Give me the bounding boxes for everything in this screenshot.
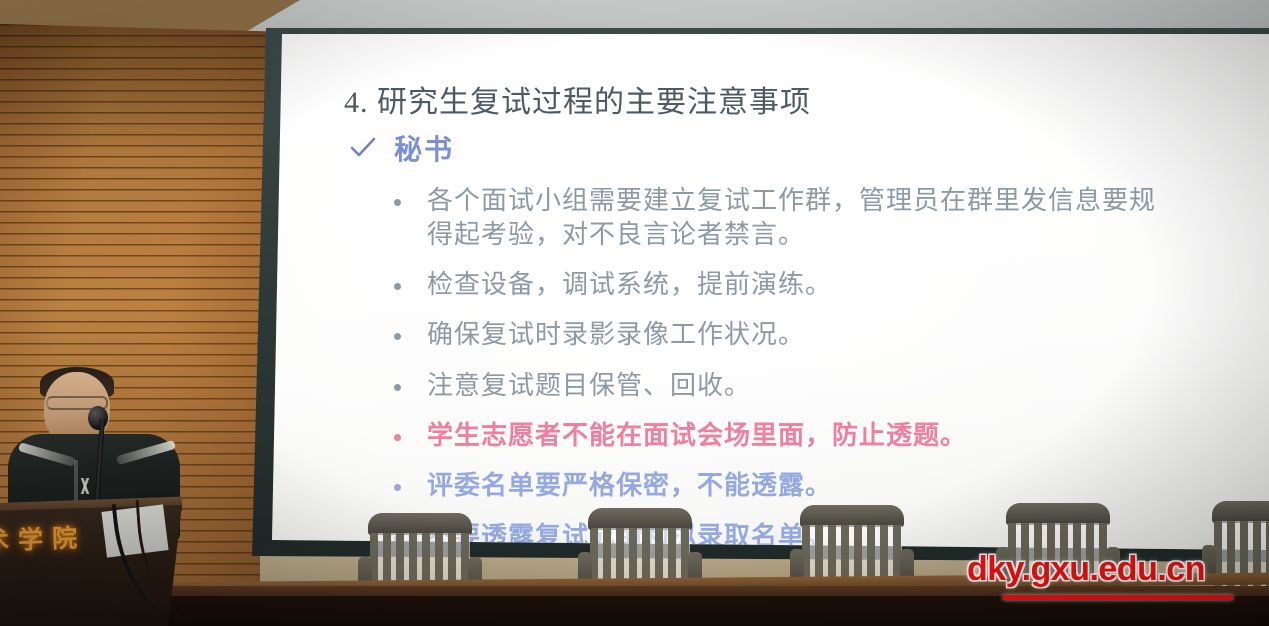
bullet-line: 得起考验，对不良言论者禁言。	[427, 220, 805, 249]
list-item: 学生志愿者不能在面试会场里面，防止透题。	[394, 419, 1269, 453]
chair-backrest	[368, 513, 472, 535]
bullet-text: 注意复试题目保管、回收。	[427, 369, 751, 403]
jacket-logo	[74, 478, 96, 494]
bullet-dot-icon	[394, 283, 401, 290]
slide-subheading: 秘书	[350, 128, 1269, 168]
bullet-text: 确保复试时录影录像工作状况。	[427, 318, 805, 352]
bullet-dot-icon	[394, 333, 401, 340]
bullet-text: 评委名单要严格保密，不能透露。	[427, 469, 832, 503]
chair-backrest	[1006, 503, 1110, 525]
chair-backrest	[1212, 501, 1269, 523]
bullet-text: 检查设备，调试系统，提前演练。	[427, 268, 832, 302]
bullet-text: 各个面试小组需要建立复试工作群，管理员在群里发信息要规 得起考验，对不良言论者禁…	[427, 184, 1156, 253]
bullet-dot-icon	[394, 484, 401, 491]
chair-backrest	[588, 508, 692, 530]
lecture-hall-photo: 4. 研究生复试过程的主要注意事项 秘书 各个面试小组需要建立复试工作群，管理员…	[0, 0, 1269, 626]
watermark-text: dky.gxu.edu.cn	[967, 550, 1205, 589]
bullet-line: 各个面试小组需要建立复试工作群，管理员在群里发信息要规	[427, 186, 1156, 215]
podium-venue-text: 术学院	[0, 518, 87, 558]
list-item: 确保复试时录影录像工作状况。	[394, 318, 1269, 352]
list-item: 评委名单要严格保密，不能透露。	[394, 469, 1269, 503]
bullet-text: 学生志愿者不能在面试会场里面，防止透题。	[427, 419, 967, 453]
list-item: 各个面试小组需要建立复试工作群，管理员在群里发信息要规 得起考验，对不良言论者禁…	[394, 184, 1269, 253]
bullet-dot-icon	[394, 434, 401, 441]
chair-backrest	[800, 505, 904, 527]
check-icon	[350, 136, 376, 160]
microphone-head-icon	[88, 406, 108, 430]
projection-screen: 4. 研究生复试过程的主要注意事项 秘书 各个面试小组需要建立复试工作群，管理员…	[272, 34, 1269, 552]
slide-content: 4. 研究生复试过程的主要注意事项 秘书 各个面试小组需要建立复试工作群，管理员…	[344, 86, 1269, 552]
bullet-dot-icon	[394, 199, 401, 206]
list-item: 注意复试题目保管、回收。	[394, 369, 1269, 403]
list-item: 检查设备，调试系统，提前演练。	[394, 268, 1269, 302]
slide-title: 4. 研究生复试过程的主要注意事项	[344, 86, 1269, 121]
bullet-dot-icon	[394, 384, 401, 391]
subheading-label: 秘书	[394, 128, 454, 168]
bullet-list: 各个面试小组需要建立复试工作群，管理员在群里发信息要规 得起考验，对不良言论者禁…	[394, 184, 1269, 553]
watermark-underline	[1003, 595, 1233, 600]
